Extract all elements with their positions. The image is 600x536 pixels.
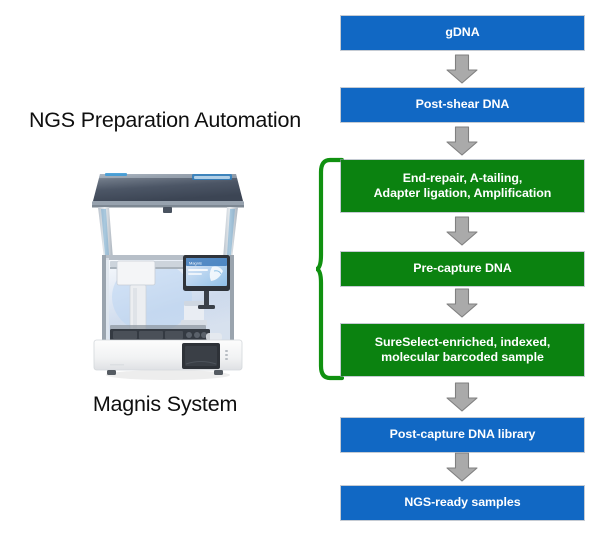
magnis-instrument-image: Magnis <box>86 157 250 383</box>
flow-node-gdna[interactable]: gDNA <box>341 16 584 50</box>
flow-node-label: Post-capture DNA library <box>384 427 542 443</box>
svg-text:Magnis: Magnis <box>189 261 202 266</box>
flow-node-post-capture[interactable]: Post-capture DNA library <box>341 418 584 452</box>
page-title: NGS Preparation Automation <box>0 108 330 133</box>
instrument-shadow <box>106 370 230 380</box>
flow-arrow-gdna-to-post-shear-dna <box>445 54 479 84</box>
flow-arrow-sureselect-to-post-capture <box>445 382 479 412</box>
flow-arrow-post-shear-dna-to-end-repair <box>445 126 479 156</box>
flow-arrow-post-capture-to-ngs-ready <box>445 452 479 482</box>
flow-node-label: SureSelect-enriched, indexed,molecular b… <box>369 335 557 366</box>
automated-steps-brace <box>316 156 344 382</box>
flow-node-sureselect[interactable]: SureSelect-enriched, indexed,molecular b… <box>341 324 584 376</box>
flow-node-pre-capture-dna[interactable]: Pre-capture DNA <box>341 252 584 286</box>
instrument-hood <box>92 173 244 213</box>
flow-arrow-pre-capture-dna-to-sureselect <box>445 288 479 318</box>
flow-node-label: gDNA <box>439 25 485 41</box>
left-panel: NGS Preparation Automation <box>0 0 335 536</box>
instrument-base <box>94 340 242 375</box>
flow-node-label: NGS-ready samples <box>398 495 526 511</box>
flow-node-end-repair[interactable]: End-repair, A-tailing,Adapter ligation, … <box>341 160 584 212</box>
flow-node-label: End-repair, A-tailing,Adapter ligation, … <box>368 171 558 202</box>
flow-node-ngs-ready[interactable]: NGS-ready samples <box>341 486 584 520</box>
workflow-diagram: gDNAPost-shear DNAEnd-repair, A-tailing,… <box>341 0 584 536</box>
flow-node-post-shear-dna[interactable]: Post-shear DNA <box>341 88 584 122</box>
flow-node-label: Pre-capture DNA <box>407 261 517 277</box>
instrument-caption: Magnis System <box>0 392 330 417</box>
flow-node-label: Post-shear DNA <box>410 97 516 113</box>
instrument-posts <box>98 207 238 259</box>
flow-arrow-end-repair-to-pre-capture-dna <box>445 216 479 246</box>
